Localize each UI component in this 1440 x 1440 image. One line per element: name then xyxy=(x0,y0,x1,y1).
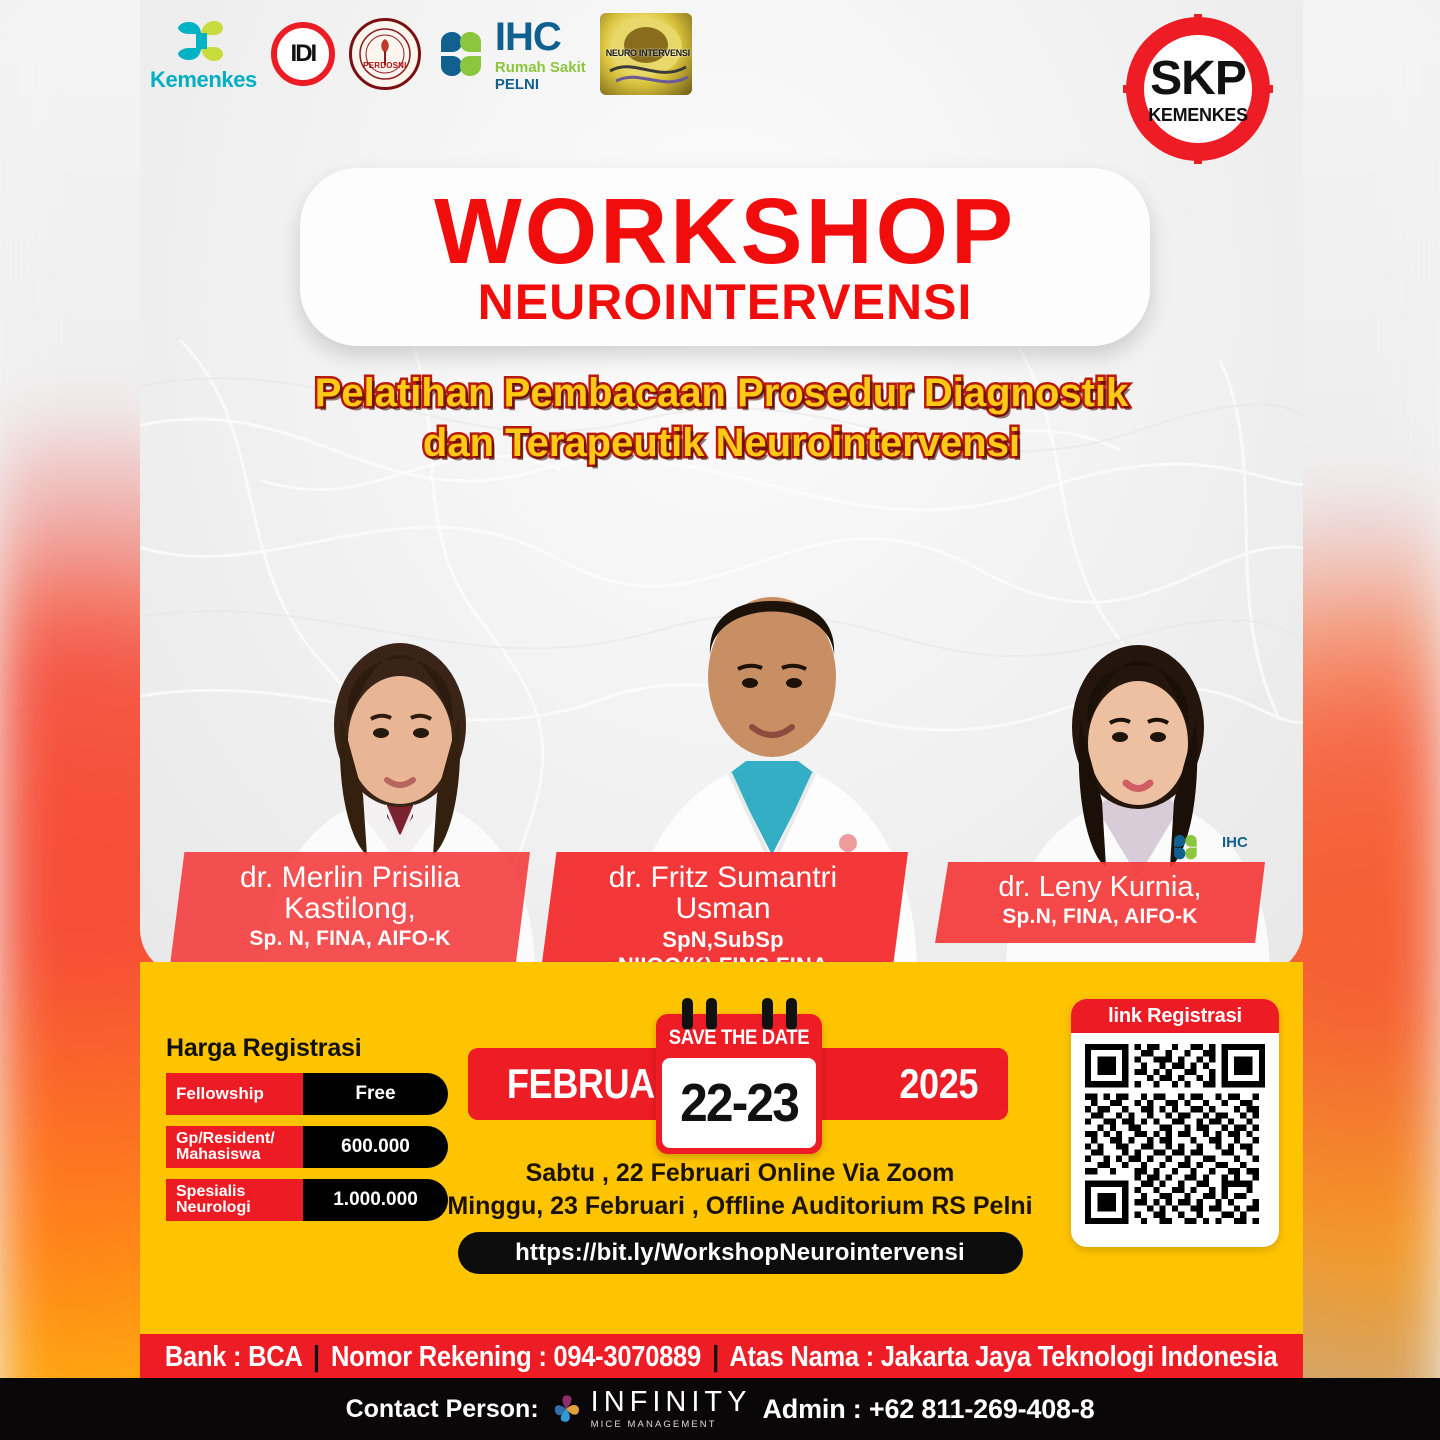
ihc-leaf-icon xyxy=(435,28,487,80)
registration-qr-card[interactable]: link Registrasi xyxy=(1071,999,1279,1247)
svg-text:IHC: IHC xyxy=(1222,834,1248,851)
event-days: 22-23 xyxy=(680,1072,798,1134)
pricing-label-line2: Mahasiswa xyxy=(176,1146,260,1163)
speaker-banner-3: dr. Leny Kurnia, Sp.N, FINA, AIFO-K xyxy=(935,862,1265,943)
contact-person-label: Contact Person: xyxy=(346,1395,539,1424)
pricing-label-text: Gp/Resident/ Mahasiswa xyxy=(176,1131,275,1164)
neurointervensi-logo: NEURO INTERVENSI xyxy=(600,13,692,95)
hero-section: Kemenkes IDI PERDOSNI xyxy=(140,0,1303,975)
schedule-details: Sabtu , 22 Februari Online Via Zoom Ming… xyxy=(430,1157,1050,1274)
registration-url[interactable]: https://bit.ly/WorkshopNeurointervensi xyxy=(458,1232,1023,1274)
page-title: WORKSHOP xyxy=(434,187,1016,275)
skp-main-label: SKP xyxy=(1148,55,1248,103)
speaker-3-name-line1: dr. Leny Kurnia, xyxy=(961,872,1239,902)
bank-separator-2: | xyxy=(708,1341,724,1373)
pricing-title: Harga Registrasi xyxy=(166,1034,446,1063)
contact-admin-phone: Admin : +62 811-269-408-8 xyxy=(763,1394,1095,1425)
bank-info-bar: Bank : BCA | Nomor Rekening : 094-307088… xyxy=(140,1334,1303,1380)
calendar-icon: SAVE THE DATE 22-23 xyxy=(656,1014,822,1154)
pricing-value-fellowship: Free xyxy=(303,1073,448,1115)
speaker-banner-2: dr. Fritz Sumantri Usman SpN,SubSp NIIOO… xyxy=(538,852,908,975)
pricing-row: Gp/Resident/ Mahasiswa 600.000 xyxy=(166,1126,446,1168)
infinity-brand-name: INFINITY xyxy=(591,1388,752,1417)
pricing-label-line1: Gp/Resident/ xyxy=(176,1130,275,1147)
schedule-line-2: Minggu, 23 Februari , Offline Auditorium… xyxy=(430,1190,1050,1223)
skp-sub-label: KEMENKES xyxy=(1148,106,1248,124)
page-subtitle-main: NEUROINTERVENSI xyxy=(478,277,973,327)
pricing-label-line2: Neurologi xyxy=(176,1199,251,1216)
speaker-1-name-line1: dr. Merlin Prisilia xyxy=(196,862,504,893)
pricing-table: Harga Registrasi Fellowship Free Gp/Resi… xyxy=(166,1034,446,1232)
title-plaque: WORKSHOP NEUROINTERVENSI xyxy=(300,168,1150,346)
schedule-line-1: Sabtu , 22 Februari Online Via Zoom xyxy=(430,1157,1050,1190)
ihc-sublabel-1: Rumah Sakit xyxy=(495,60,586,75)
poster: Kemenkes IDI PERDOSNI xyxy=(140,0,1303,1440)
bank-separator-1: | xyxy=(309,1341,325,1373)
speaker-3-degree: Sp.N, FINA, AIFO-K xyxy=(961,905,1239,929)
pricing-value-gp-resident: 600.000 xyxy=(303,1126,448,1168)
speaker-banner-1: dr. Merlin Prisilia Kastilong, Sp. N, FI… xyxy=(170,852,530,965)
speaker-2-name-line1: dr. Fritz Sumantri xyxy=(564,862,882,893)
event-year: 2025 xyxy=(899,1060,978,1108)
idi-ring: IDI xyxy=(271,22,335,86)
skp-badge: SKP KEMENKES xyxy=(1123,14,1273,164)
contact-bar: Contact Person: INFINITY MICE MANAGEMENT… xyxy=(0,1378,1440,1440)
pricing-label-line1: Spesialis xyxy=(176,1183,245,1200)
ihc-pelni-logo: IHC Rumah Sakit PELNI xyxy=(435,17,586,92)
calendar-body: 22-23 xyxy=(662,1058,816,1148)
pricing-row: Fellowship Free xyxy=(166,1073,446,1115)
perdosni-mark xyxy=(358,27,412,81)
bank-account-number: Nomor Rekening : 094-3070889 xyxy=(331,1341,701,1373)
perdosni-label: PERDOSNI xyxy=(352,61,418,70)
ihc-sublabel-2: PELNI xyxy=(495,77,586,92)
qr-code[interactable] xyxy=(1071,1033,1279,1238)
event-subtitle: Pelatihan Pembacaan Prosedur Diagnostik … xyxy=(140,368,1303,469)
pricing-label-fellowship: Fellowship xyxy=(166,1073,311,1115)
idi-label: IDI xyxy=(291,40,316,68)
neurointervensi-label: NEURO INTERVENSI xyxy=(606,49,690,58)
kemenkes-label: Kemenkes xyxy=(150,67,257,93)
bank-name: Bank : BCA xyxy=(165,1341,302,1373)
qr-code-image xyxy=(1085,1044,1265,1224)
speaker-1-name-line2: Kastilong, xyxy=(196,893,504,924)
idi-logo: IDI xyxy=(271,22,335,86)
save-the-date-block: FEBRUARI 2025 SAVE THE DATE 22-23 xyxy=(458,1004,1018,1144)
ihc-label: IHC xyxy=(495,17,586,57)
pricing-label-text: Fellowship xyxy=(176,1085,264,1102)
infinity-logo: INFINITY MICE MANAGEMENT xyxy=(550,1388,752,1430)
bank-account-name: Atas Nama : Jakarta Jaya Teknologi Indon… xyxy=(730,1341,1278,1373)
pricing-row: Spesialis Neurologi 1.000.000 xyxy=(166,1179,446,1221)
speaker-1-degree: Sp. N, FINA, AIFO-K xyxy=(196,927,504,951)
save-the-date-label: SAVE THE DATE xyxy=(666,1026,812,1050)
qr-header-label: link Registrasi xyxy=(1071,999,1279,1033)
infinity-butterfly-icon xyxy=(550,1392,584,1426)
pricing-value-spesialis: 1.000.000 xyxy=(303,1179,448,1221)
kemenkes-mark xyxy=(175,16,231,66)
pricing-label-gp-resident: Gp/Resident/ Mahasiswa xyxy=(166,1126,311,1168)
infinity-brand-tagline: MICE MANAGEMENT xyxy=(591,1420,752,1430)
kemenkes-logo: Kemenkes xyxy=(150,16,257,93)
info-section: Harga Registrasi Fellowship Free Gp/Resi… xyxy=(140,962,1303,1334)
pricing-label-text: Spesialis Neurologi xyxy=(176,1184,251,1217)
perdosni-logo: PERDOSNI xyxy=(349,18,421,90)
pricing-label-spesialis: Spesialis Neurologi xyxy=(166,1179,311,1221)
subtitle-line-1: Pelatihan Pembacaan Prosedur Diagnostik xyxy=(140,368,1303,418)
speaker-2-name-line2: Usman xyxy=(564,893,882,924)
